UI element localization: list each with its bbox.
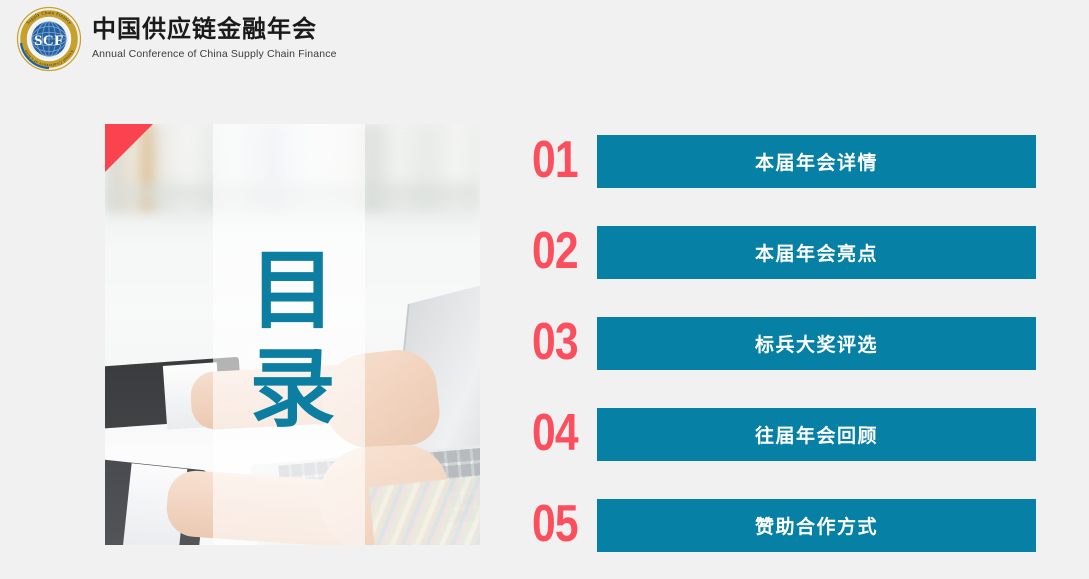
agenda-item-label: 往届年会回顾 (755, 421, 878, 448)
agenda-item-label: 本届年会详情 (755, 148, 878, 175)
sidebar-item-agenda-1[interactable]: 本届年会详情 (597, 135, 1036, 188)
org-name-cn: 中国供应链金融年会 (92, 16, 337, 44)
sidebar-item-agenda-2[interactable]: 本届年会亮点 (597, 226, 1036, 279)
agenda-menu-list: 01 本届年会详情 02 本届年会亮点 03 标兵大奖评选 04 往届年会回顾 … (530, 124, 1040, 549)
agenda-item-label: 赞助合作方式 (755, 512, 878, 539)
header-text-block: 中国供应链金融年会 Annual Conference of China Sup… (92, 16, 337, 61)
list-item[interactable]: 02 本届年会亮点 (530, 226, 1036, 279)
org-name-en: Annual Conference of China Supply Chain … (92, 47, 337, 61)
scf-globe-seal-logo: Supply Chain Finance Annual Conference o… (16, 6, 82, 72)
red-corner-accent-triangle (105, 124, 153, 172)
list-item[interactable]: 04 往届年会回顾 (530, 408, 1036, 461)
svg-text:SCF: SCF (34, 33, 64, 49)
agenda-item-label: 本届年会亮点 (755, 239, 878, 266)
agenda-item-number: 03 (532, 311, 581, 373)
agenda-item-number: 04 (532, 402, 581, 464)
agenda-item-number: 02 (532, 220, 581, 282)
agenda-item-number: 01 (532, 129, 581, 191)
agenda-item-label: 标兵大奖评选 (755, 330, 878, 357)
sidebar-item-agenda-3[interactable]: 标兵大奖评选 (597, 317, 1036, 370)
agenda-item-number: 05 (532, 493, 581, 555)
list-item[interactable]: 01 本届年会详情 (530, 135, 1036, 188)
list-item[interactable]: 05 赞助合作方式 (530, 499, 1036, 552)
sidebar-item-agenda-4[interactable]: 往届年会回顾 (597, 408, 1036, 461)
sidebar-item-agenda-5[interactable]: 赞助合作方式 (597, 499, 1036, 552)
page-title-char-1: 目 (105, 242, 480, 340)
page-title: 目 录 (105, 242, 480, 438)
list-item[interactable]: 03 标兵大奖评选 (530, 317, 1036, 370)
page-title-char-2: 录 (105, 340, 480, 438)
slide-header: Supply Chain Finance Annual Conference o… (0, 0, 1089, 76)
table-of-contents-photo-panel: 目 录 (105, 124, 480, 545)
